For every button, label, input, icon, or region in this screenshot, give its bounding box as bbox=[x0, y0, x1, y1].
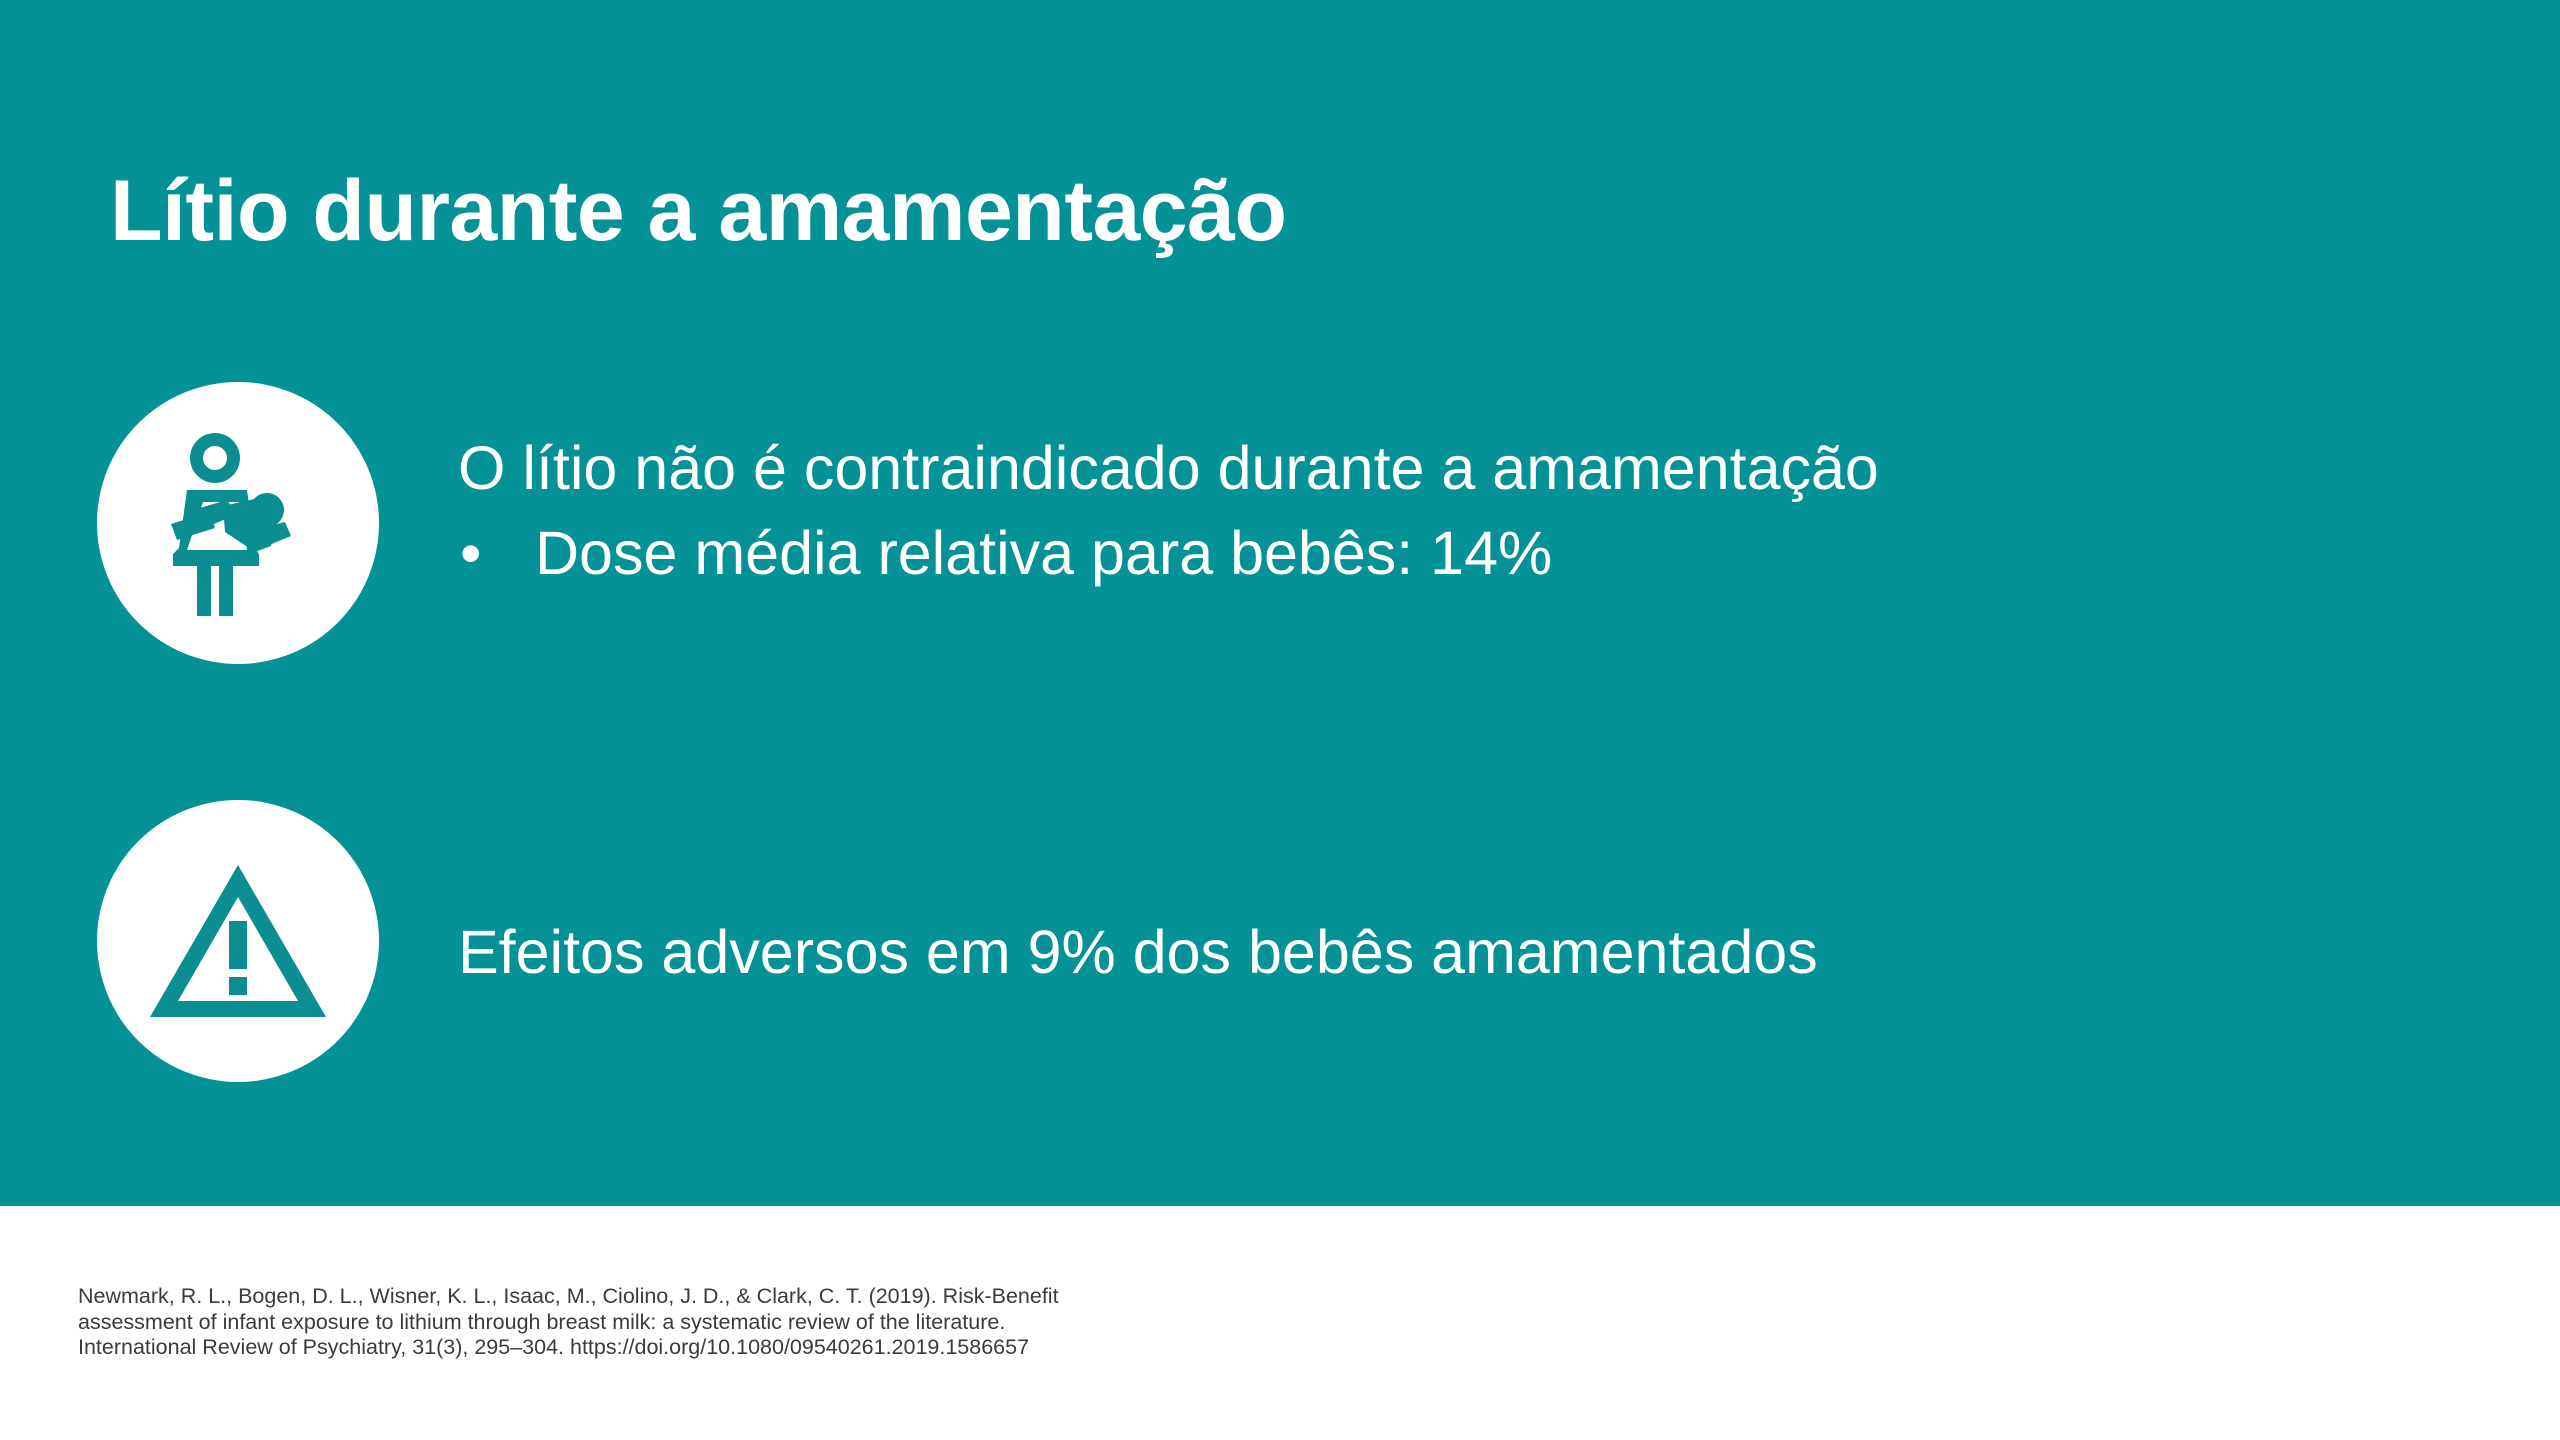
content-line: O lítio não é contraindicado durante a a… bbox=[458, 428, 2418, 509]
slide-root: Lítio durante a amamentação bbox=[0, 0, 2560, 1440]
content-text-breastfeeding: O lítio não é contraindicado durante a a… bbox=[458, 428, 2418, 594]
citation-line-3: International Review of Psychiatry, 31(3… bbox=[78, 1335, 1478, 1361]
content-text-adverse-effects: Efeitos adversos em 9% dos bebês amament… bbox=[458, 912, 2418, 993]
page-title: Lítio durante a amamentação bbox=[110, 166, 2310, 256]
citation-line-1: Newmark, R. L., Bogen, D. L., Wisner, K.… bbox=[78, 1284, 1478, 1310]
bullet-marker-icon: • bbox=[460, 513, 486, 594]
content-bullet-item: • Dose média relativa para bebês: 14% bbox=[458, 513, 2418, 594]
mother-breastfeeding-icon bbox=[163, 428, 313, 618]
icon-badge-breastfeeding bbox=[97, 382, 379, 664]
warning-triangle-icon bbox=[150, 863, 326, 1019]
icon-badge-warning bbox=[97, 800, 379, 1082]
content-block-adverse-effects: Efeitos adversos em 9% dos bebês amament… bbox=[0, 800, 2560, 1100]
citation-line-2: assessment of infant exposure to lithium… bbox=[78, 1310, 1478, 1336]
citation-reference: Newmark, R. L., Bogen, D. L., Wisner, K.… bbox=[78, 1284, 1478, 1361]
bullet-text: Dose média relativa para bebês: 14% bbox=[535, 519, 1552, 587]
footer-bar: Newmark, R. L., Bogen, D. L., Wisner, K.… bbox=[0, 1206, 2560, 1440]
content-block-breastfeeding: O lítio não é contraindicado durante a a… bbox=[0, 382, 2560, 682]
content-line: Efeitos adversos em 9% dos bebês amament… bbox=[458, 912, 2418, 993]
